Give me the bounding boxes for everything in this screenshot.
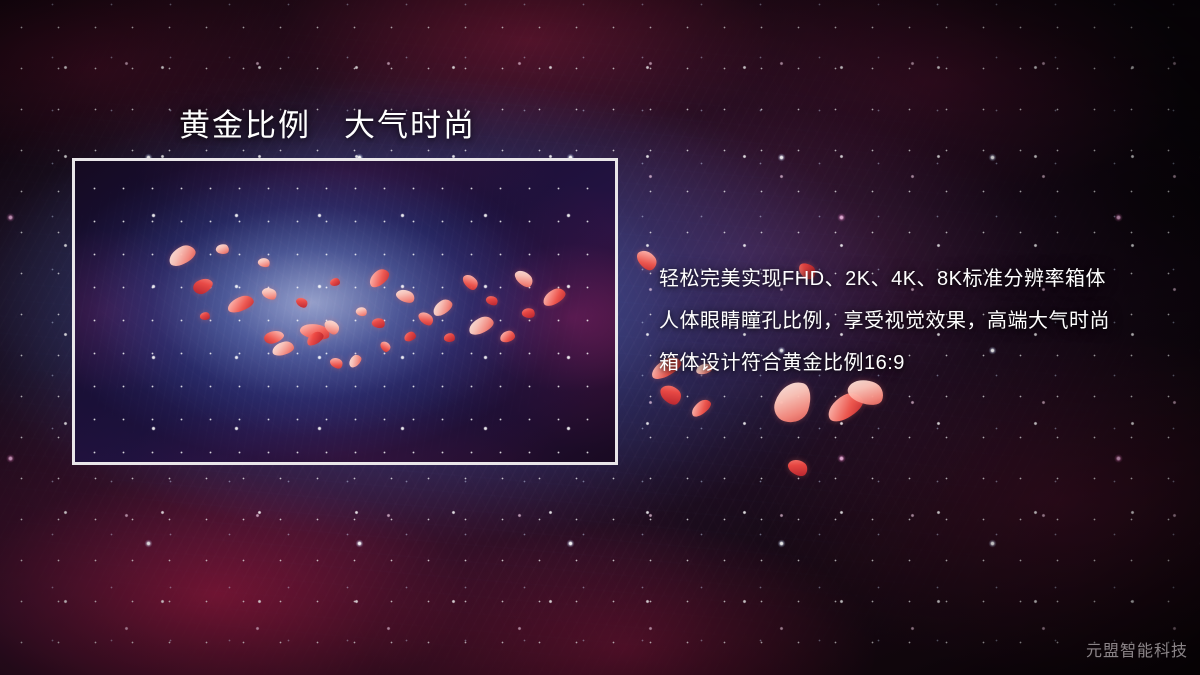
rose-petal xyxy=(634,246,660,273)
body-line-1: 轻松完美实现FHD、2K、4K、8K标准分辨率箱体 xyxy=(659,258,1179,300)
page-title: 黄金比例 大气时尚 xyxy=(179,100,476,145)
photo-frame xyxy=(72,158,618,465)
rose-petal xyxy=(770,377,815,427)
watermark: 元盟智能科技 xyxy=(1086,637,1188,661)
rose-petal xyxy=(786,456,811,480)
rose-petal xyxy=(689,397,714,419)
body-text-block: 轻松完美实现FHD、2K、4K、8K标准分辨率箱体 人体眼睛瞳孔比例，享受视觉效… xyxy=(659,258,1179,384)
slide-canvas: 黄金比例 大气时尚 轻松完美实现FHD、2K、4K、8K标准分辨率箱体 人体眼睛… xyxy=(0,0,1200,675)
body-line-3: 箱体设计符合黄金比例16:9 xyxy=(659,342,1179,384)
rose-petal xyxy=(657,381,684,409)
rose-petal xyxy=(330,278,340,286)
body-line-2: 人体眼睛瞳孔比例，享受视觉效果，高端大气时尚 xyxy=(659,300,1179,342)
